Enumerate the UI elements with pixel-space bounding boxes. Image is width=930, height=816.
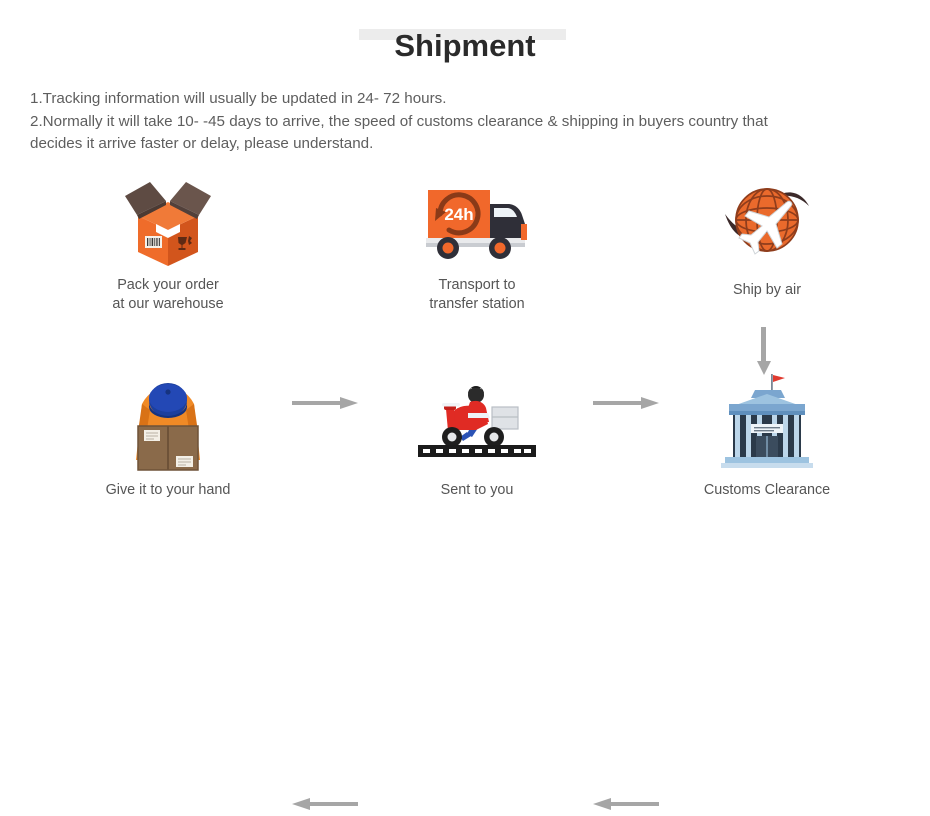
step-caption: Transport to transfer station (377, 276, 577, 314)
step-caption: Ship by air (667, 281, 867, 300)
step-ship-by-air: Ship by air (667, 172, 867, 300)
step-caption: Sent to you (377, 481, 577, 500)
delivery-truck-24h-icon: 24h (377, 172, 577, 272)
step-caption: Customs Clearance (667, 481, 867, 500)
step-caption: Give it to your hand (68, 481, 268, 500)
process-row-top: Pack your order at our warehouse (0, 172, 930, 322)
step-pack-order: Pack your order at our warehouse (68, 172, 268, 314)
arrow-sent-to-hand (292, 797, 358, 811)
open-box-icon (68, 172, 268, 272)
courier-with-box-icon (68, 372, 268, 472)
step-transport-transfer-station: 24h Transport to transfer station (377, 172, 577, 314)
step-sent-to-you: Sent to you (377, 372, 577, 500)
process-row-bottom: Give it to your hand (0, 372, 930, 522)
step-caption: Pack your order at our warehouse (68, 276, 268, 314)
info-line-1: 1.Tracking information will usually be u… (30, 88, 900, 111)
arrow-customs-to-sent (593, 797, 659, 811)
shipping-info-paragraph: 1.Tracking information will usually be u… (30, 88, 900, 156)
page-title-wrapper: Shipment (0, 22, 930, 68)
step-give-to-your-hand: Give it to your hand (68, 372, 268, 500)
info-line-2: 2.Normally it will take 10- -45 days to … (30, 111, 900, 134)
arrow-air-to-customs (757, 327, 771, 375)
page-title: Shipment (394, 30, 535, 61)
truck-badge-text: 24h (444, 205, 473, 224)
step-customs-clearance: Customs Clearance (667, 372, 867, 500)
scooter-delivery-icon (377, 372, 577, 472)
customs-building-icon (667, 372, 867, 472)
globe-airplane-icon (667, 172, 867, 272)
info-line-3: decides it arrive faster or delay, pleas… (30, 133, 900, 156)
